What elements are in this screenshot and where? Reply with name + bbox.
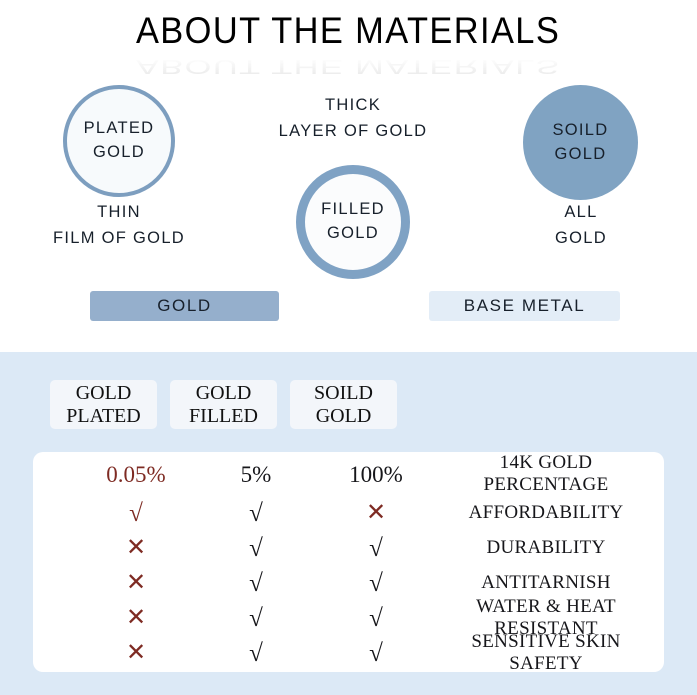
- check-icon: √: [369, 605, 383, 632]
- circle-plated-gold-label: PLATED GOLD: [84, 117, 155, 165]
- hero-section: ABOUT THE MATERIALS ABOUT THE MATERIALS …: [0, 0, 697, 352]
- check-icon: √: [369, 640, 383, 667]
- percentage-value: 0.05%: [106, 462, 165, 487]
- title-reflection: ABOUT THE MATERIALS: [136, 56, 560, 77]
- column-header-solid-gold: SOILD GOLD: [290, 380, 397, 429]
- check-icon: √: [249, 605, 263, 632]
- check-icon: √: [249, 535, 263, 562]
- legend-gold: GOLD: [90, 291, 279, 321]
- percentage-value: 5%: [241, 462, 272, 487]
- row-label: AFFORDABILITY: [436, 502, 664, 524]
- cell-mark: √: [316, 606, 436, 631]
- title-block: ABOUT THE MATERIALS ABOUT THE MATERIALS: [0, 12, 697, 86]
- cell-mark: √: [316, 571, 436, 596]
- cell-percentage: 100%: [316, 463, 436, 486]
- comparison-section: GOLD PLATED GOLD FILLED SOILD GOLD 0.05%…: [0, 352, 697, 695]
- check-icon: √: [249, 500, 263, 527]
- check-icon: √: [249, 570, 263, 597]
- column-header-gold-filled: GOLD FILLED: [170, 380, 277, 429]
- percentage-value: 100%: [349, 462, 403, 487]
- cell-percentage: 0.05%: [76, 463, 196, 486]
- circle-solid-gold: SOILD GOLD: [523, 85, 638, 200]
- row-label: SENSITIVE SKIN SAFETY: [436, 631, 664, 675]
- row-label: 14K GOLD PERCENTAGE: [436, 452, 664, 496]
- table-row: ✕√√ANTITARNISH: [33, 567, 664, 599]
- caption-plated-gold: THIN FILM OF GOLD: [19, 200, 219, 251]
- table-row: 0.05%5%100%14K GOLD PERCENTAGE: [33, 458, 664, 490]
- cross-icon: ✕: [126, 535, 146, 561]
- cell-mark: √: [196, 571, 316, 596]
- table-row: ✕√√WATER & HEAT RESISTANT: [33, 602, 664, 634]
- cross-icon: ✕: [366, 500, 386, 526]
- cell-mark: √: [196, 641, 316, 666]
- cell-mark: ✕: [316, 501, 436, 525]
- cell-mark: ✕: [76, 571, 196, 595]
- cell-mark: √: [196, 536, 316, 561]
- page-title: ABOUT THE MATERIALS: [136, 12, 560, 51]
- cell-mark: √: [196, 501, 316, 526]
- cell-mark: √: [196, 606, 316, 631]
- table-row: ✕√√SENSITIVE SKIN SAFETY: [33, 637, 664, 669]
- legend-base-metal: BASE METAL: [429, 291, 620, 321]
- cell-percentage: 5%: [196, 463, 316, 486]
- table-row: ✕√√DURABILITY: [33, 532, 664, 564]
- cross-icon: ✕: [126, 605, 146, 631]
- comparison-table: 0.05%5%100%14K GOLD PERCENTAGE√√✕AFFORDA…: [33, 452, 664, 672]
- check-icon: √: [249, 640, 263, 667]
- circle-filled-gold: FILLED GOLD: [296, 165, 410, 279]
- cell-mark: √: [316, 641, 436, 666]
- circle-solid-gold-label: SOILD GOLD: [552, 119, 608, 167]
- check-icon: √: [129, 500, 143, 527]
- cross-icon: ✕: [126, 640, 146, 666]
- cell-mark: ✕: [76, 606, 196, 630]
- row-label: DURABILITY: [436, 537, 664, 559]
- column-header-gold-plated: GOLD PLATED: [50, 380, 157, 429]
- circle-filled-gold-label: FILLED GOLD: [321, 198, 385, 246]
- caption-filled-gold: THICK LAYER OF GOLD: [253, 93, 453, 144]
- cell-mark: ✕: [76, 536, 196, 560]
- cross-icon: ✕: [126, 570, 146, 596]
- cell-mark: √: [316, 536, 436, 561]
- row-label: ANTITARNISH: [436, 572, 664, 594]
- check-icon: √: [369, 570, 383, 597]
- table-row: √√✕AFFORDABILITY: [33, 497, 664, 529]
- caption-solid-gold: ALL GOLD: [481, 200, 681, 251]
- circle-plated-gold: PLATED GOLD: [63, 85, 175, 197]
- check-icon: √: [369, 535, 383, 562]
- cell-mark: ✕: [76, 641, 196, 665]
- cell-mark: √: [76, 501, 196, 526]
